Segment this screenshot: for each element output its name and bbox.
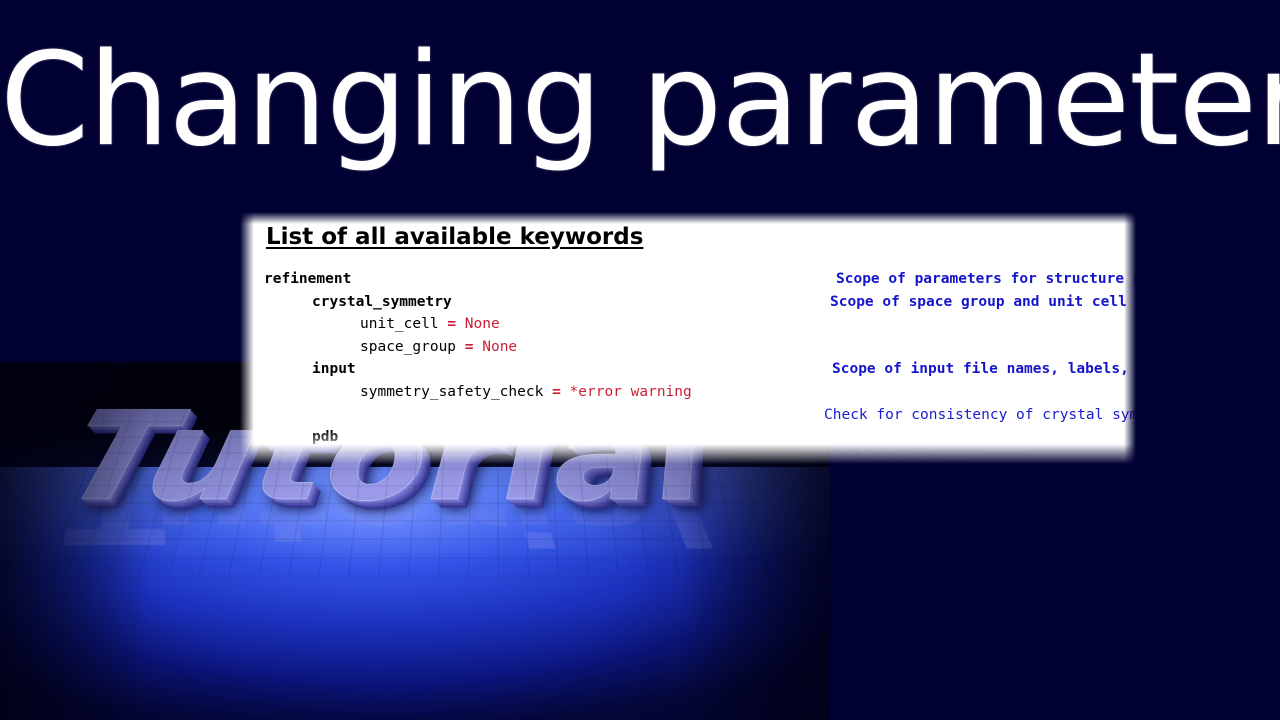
keyword-name: crystal_symmetry [312, 291, 452, 314]
keyword-token: = [465, 339, 482, 355]
keyword-description: Scope of space group and unit cell param… [830, 291, 1136, 314]
keyword-row: pdb [240, 426, 1136, 449]
keywords-panel: List of all available keywords refinemen… [240, 212, 1136, 464]
keyword-description-token: Scope of space group and unit cell param… [830, 294, 1136, 310]
keyword-row: Check for consistency of crystal symmetr… [240, 404, 1136, 427]
keyword-name: file_name = None [410, 449, 550, 464]
keyword-name: refinement [264, 268, 351, 291]
keyword-token: None [482, 339, 517, 355]
keyword-description: Scope of input file names, labels, proce… [832, 358, 1136, 381]
keyword-token: None [515, 452, 550, 464]
keyword-row: unit_cell = None [240, 313, 1136, 336]
keyword-token: *error warning [570, 384, 692, 400]
keyword-description-token: Model file(s) name (PDB) [820, 452, 1030, 464]
keyword-token: None [465, 316, 500, 332]
keyword-name: pdb [312, 426, 338, 449]
page-title: Changing parameters [0, 34, 1280, 168]
panel-heading: List of all available keywords [266, 224, 643, 250]
keyword-description: Model file(s) name (PDB) [820, 449, 1030, 464]
keyword-token: pdb [312, 429, 338, 445]
keyword-token: = [552, 384, 569, 400]
keyword-row: symmetry_safety_check = *error warning [240, 381, 1136, 404]
keyword-token: = [497, 452, 514, 464]
keyword-name: input [312, 358, 356, 381]
keyword-description-token: Scope of parameters for structure refine… [836, 271, 1136, 287]
keyword-token: file_name [410, 452, 497, 464]
keyword-name: space_group = None [360, 336, 517, 359]
keyword-token: = [447, 316, 464, 332]
keyword-row: inputScope of input file names, labels, … [240, 358, 1136, 381]
keyword-row: refinementScope of parameters for struct… [240, 268, 1136, 291]
keyword-description-token: Check for consistency of crystal symmetr… [824, 407, 1136, 423]
keyword-token: space_group [360, 339, 465, 355]
keyword-token: refinement [264, 271, 351, 287]
keyword-name: symmetry_safety_check = *error warning [360, 381, 692, 404]
keyword-description: Check for consistency of crystal symmetr… [824, 404, 1136, 427]
keyword-row: space_group = None [240, 336, 1136, 359]
keyword-list: refinementScope of parameters for struct… [240, 268, 1136, 464]
keyword-token: crystal_symmetry [312, 294, 452, 310]
slide-canvas: Changing parameters Tutorial Tutorial Li… [0, 0, 1280, 720]
keyword-token: input [312, 361, 356, 377]
keyword-description: Scope of parameters for structure refine… [836, 268, 1136, 291]
keyword-row: crystal_symmetryScope of space group and… [240, 291, 1136, 314]
keyword-description-token: Scope of input file names, labels, proce… [832, 361, 1136, 377]
keyword-token: symmetry_safety_check [360, 384, 552, 400]
keyword-row: file_name = NoneModel file(s) name (PDB) [240, 449, 1136, 464]
keyword-token: unit_cell [360, 316, 447, 332]
keyword-name: unit_cell = None [360, 313, 500, 336]
